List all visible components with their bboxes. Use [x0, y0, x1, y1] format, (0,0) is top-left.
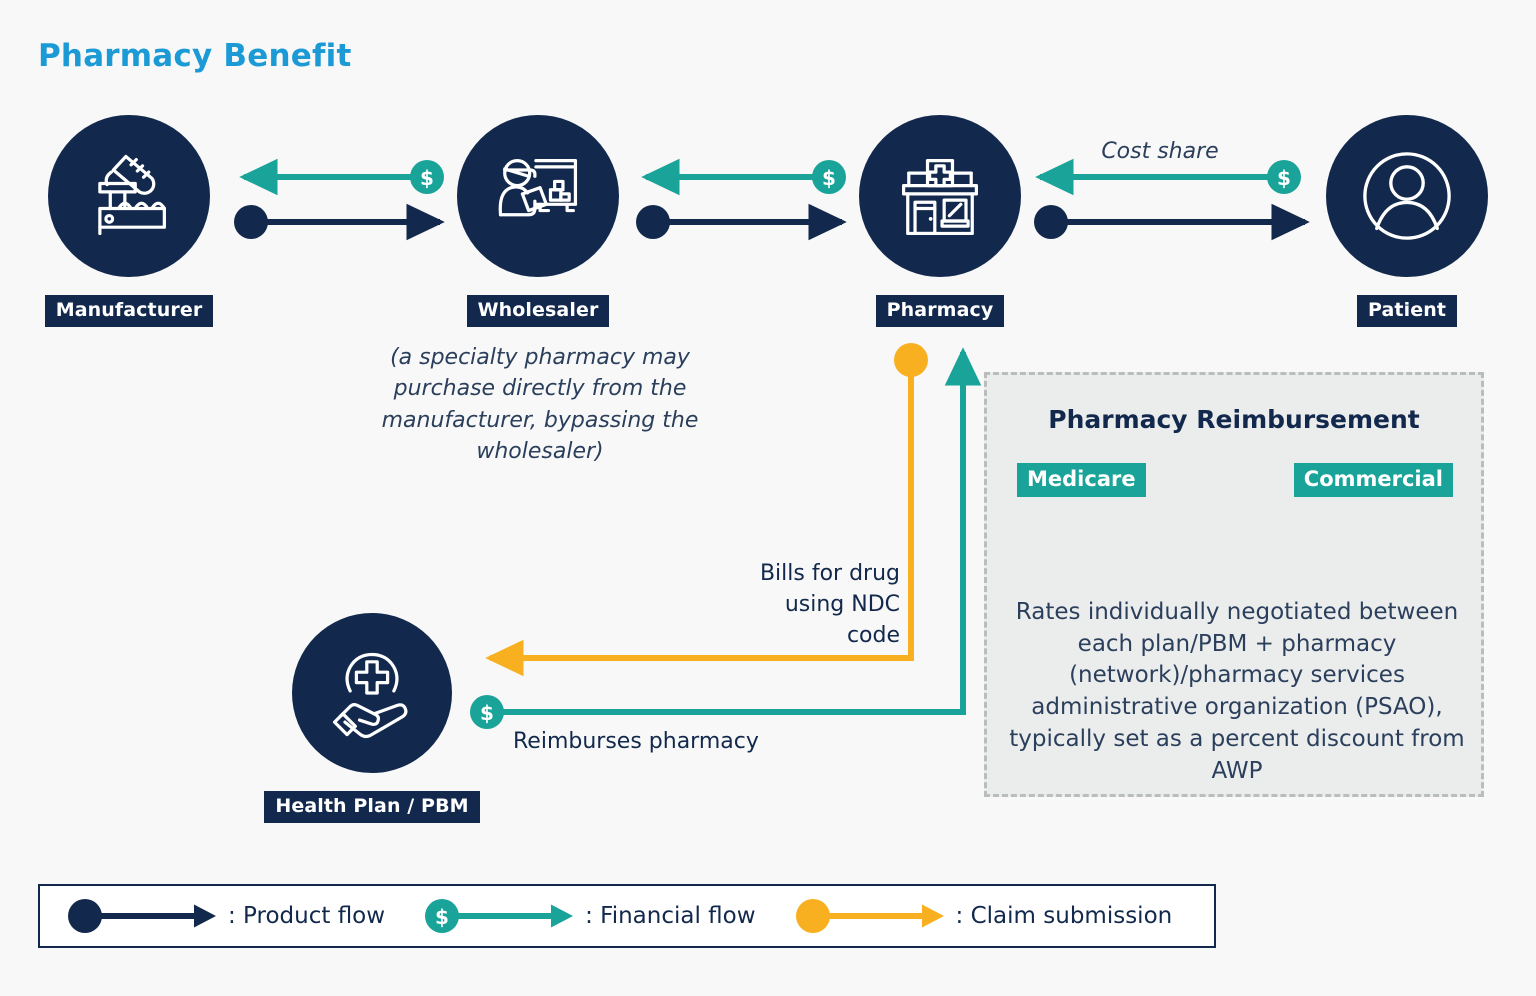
legend: : Product flow $ : Financial flow : Clai… — [38, 884, 1216, 948]
diagram-canvas: Pharmacy Benefit $ — [0, 0, 1536, 996]
bills-for-drug-label: Bills for drug using NDC code — [740, 558, 900, 652]
svg-text:$: $ — [420, 166, 434, 190]
pharmacy-storefront-icon — [859, 115, 1021, 277]
tag-commercial-label: Commercial — [1294, 463, 1453, 497]
svg-text:$: $ — [822, 166, 836, 190]
legend-item-product-flow: : Product flow — [66, 886, 385, 946]
reimbursement-panel-title: Pharmacy Reimbursement — [987, 405, 1481, 434]
node-label-patient: Patient — [1357, 295, 1457, 327]
warehouse-worker-icon — [457, 115, 619, 277]
legend-label-product-flow: : Product flow — [228, 903, 385, 929]
financial-flow-pharmacy-to-wholesaler: $ — [646, 160, 846, 194]
node-label-pharmacy: Pharmacy — [876, 295, 1005, 327]
reimbursement-panel-body: Rates individually negotiated between ea… — [1007, 597, 1467, 787]
svg-text:$: $ — [480, 701, 494, 725]
node-label-wholesaler: Wholesaler — [467, 295, 610, 327]
product-flow-wholesaler-to-pharmacy — [636, 205, 842, 239]
pharmacy-reimbursement-panel: Pharmacy Reimbursement Medicare Commerci… — [984, 372, 1484, 797]
cost-share-label: Cost share — [1040, 136, 1280, 167]
tag-medicare[interactable]: Medicare — [1017, 463, 1146, 497]
node-patient[interactable]: Patient — [1326, 115, 1488, 327]
financial-flow-wholesaler-to-manufacturer: $ — [244, 160, 444, 194]
page-title: Pharmacy Benefit — [38, 38, 351, 74]
claim-submission-marker-icon — [794, 896, 946, 936]
manufacturing-line-icon — [48, 115, 210, 277]
product-flow-marker-icon — [66, 896, 218, 936]
node-health-plan-pbm[interactable]: Health Plan / PBM — [292, 613, 452, 823]
svg-text:$: $ — [1277, 166, 1291, 190]
legend-label-financial-flow: : Financial flow — [585, 903, 755, 929]
node-pharmacy[interactable]: Pharmacy — [859, 115, 1021, 327]
svg-text:$: $ — [435, 905, 449, 929]
node-manufacturer[interactable]: Manufacturer — [48, 115, 210, 327]
legend-item-financial-flow: $ : Financial flow — [423, 886, 755, 946]
legend-item-claim-submission: : Claim submission — [794, 886, 1173, 946]
tag-commercial[interactable]: Commercial — [1294, 463, 1453, 497]
node-label-health-plan-pbm: Health Plan / PBM — [264, 791, 479, 823]
financial-flow-marker-icon: $ — [423, 896, 575, 936]
legend-label-claim-submission: : Claim submission — [956, 903, 1173, 929]
wholesaler-note: (a specialty pharmacy may purchase direc… — [370, 342, 710, 468]
reimburses-pharmacy-label: Reimburses pharmacy — [513, 726, 913, 757]
tag-medicare-label: Medicare — [1017, 463, 1146, 497]
person-avatar-icon — [1326, 115, 1488, 277]
hand-holding-cross-icon — [292, 613, 452, 773]
product-flow-pharmacy-to-patient — [1034, 205, 1305, 239]
node-wholesaler[interactable]: Wholesaler — [457, 115, 619, 327]
node-label-manufacturer: Manufacturer — [45, 295, 214, 327]
product-flow-manufacturer-to-wholesaler — [234, 205, 440, 239]
